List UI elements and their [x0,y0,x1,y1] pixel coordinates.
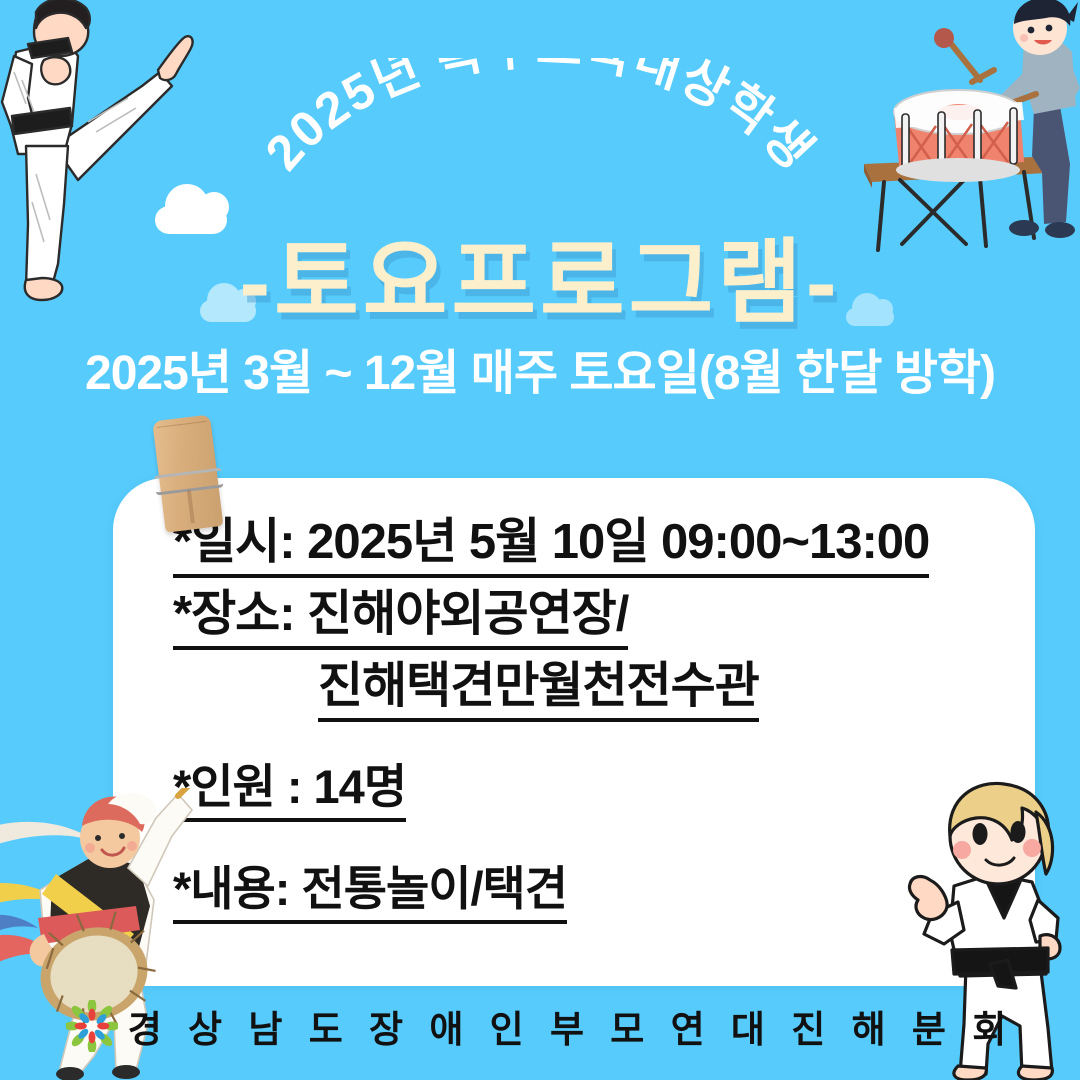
info-line-date-text: *일시: 2025년 5월 10일 09:00~13:00 [173,502,929,578]
page-title: -토요프로그램- [0,208,1080,341]
arched-headline-text: 2025년 특수교육대상학생 [255,58,825,181]
footer-bar: 경 상 남 도 장 애 인 부 모 연 대 진 해 분 회 [0,995,1080,1057]
page-subtitle: 2025년 3월 ~ 12월 매주 토요일(8월 한달 방학) [0,333,1080,403]
pinwheel-logo-icon [66,1000,118,1052]
info-line-place-2-text: 진해택견만월천전수관 [318,646,759,722]
info-line-place-1-text: *장소: 진해야외공연장/ [173,574,628,650]
info-line-content-text: *내용: 전통놀이/택견 [173,850,567,924]
info-line-place-1: *장소: 진해야외공연장/ [173,574,628,650]
info-line-content: *내용: 전통놀이/택견 [173,850,567,924]
info-line-date: *일시: 2025년 5월 10일 09:00~13:00 [173,502,929,578]
info-line-place-2: 진해택견만월천전수관 [318,646,759,722]
organization-name: 경 상 남 도 장 애 인 부 모 연 대 진 해 분 회 [128,999,1015,1053]
clothespin-icon [152,414,223,532]
poster-canvas: 2025년 특수교육대상학생 -토요프로그램- 2025년 3월 ~ 12월 매… [0,0,1080,1080]
